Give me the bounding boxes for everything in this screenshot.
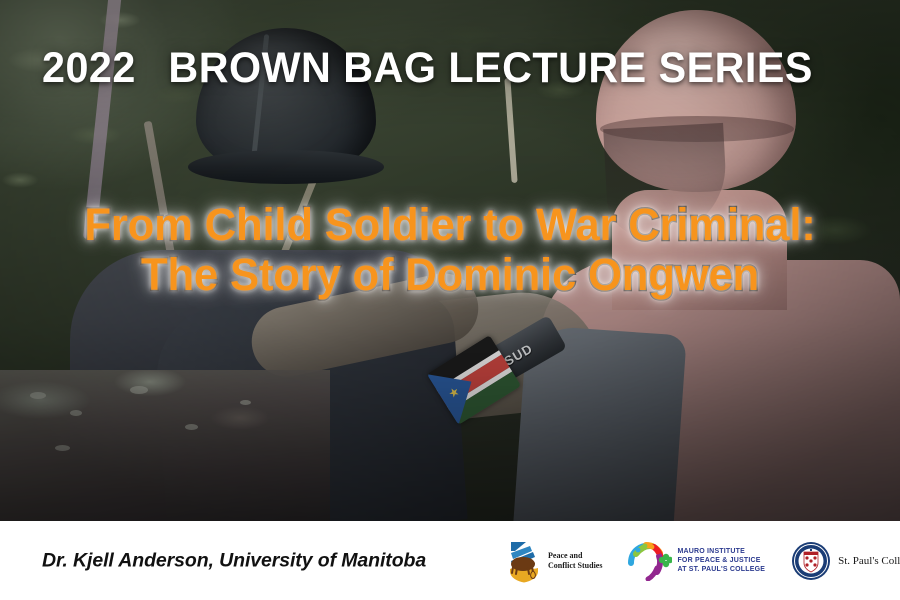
logo-st-pauls-college: St. Paul's College: [791, 541, 900, 581]
mauro-line-2: FOR PEACE & JUSTICE: [677, 556, 765, 565]
logo-peace-and-conflict-studies: Peace and Conflict Studies: [506, 538, 602, 584]
footer-bar: Dr. Kjell Anderson, University of Manito…: [0, 521, 900, 600]
logo-mauro-institute-text: MAURO INSTITUTE FOR PEACE & JUSTICE AT S…: [677, 547, 765, 574]
logo-mauro-institute: MAURO INSTITUTE FOR PEACE & JUSTICE AT S…: [628, 541, 765, 581]
pcs-line-2: Conflict Studies: [548, 561, 602, 571]
mauro-line-3: AT ST. PAUL'S COLLEGE: [677, 565, 765, 574]
logo-peace-and-conflict-studies-text: Peace and Conflict Studies: [548, 551, 602, 570]
lecture-year: 2022: [42, 44, 136, 92]
pcs-line-1: Peace and: [548, 551, 602, 561]
st-pauls-college-crest-icon: [791, 541, 831, 581]
lecture-series-name: BROWN BAG LECTURE SERIES: [168, 44, 813, 92]
logo-st-pauls-college-text: St. Paul's College: [838, 555, 900, 567]
university-of-manitoba-shield-icon: [506, 538, 542, 584]
speaker-credit: Dr. Kjell Anderson, University of Manito…: [42, 549, 426, 572]
mauro-line-1: MAURO INSTITUTE: [677, 547, 765, 556]
lecture-poster: S. SUD ★ 2022BROWN BAG LECTURE SERIES Fr…: [0, 0, 900, 600]
sponsor-logos: Peace and Conflict Studies: [500, 521, 900, 600]
mauro-institute-arc-icon: [628, 541, 672, 581]
header-series-line: 2022BROWN BAG LECTURE SERIES: [42, 44, 813, 92]
